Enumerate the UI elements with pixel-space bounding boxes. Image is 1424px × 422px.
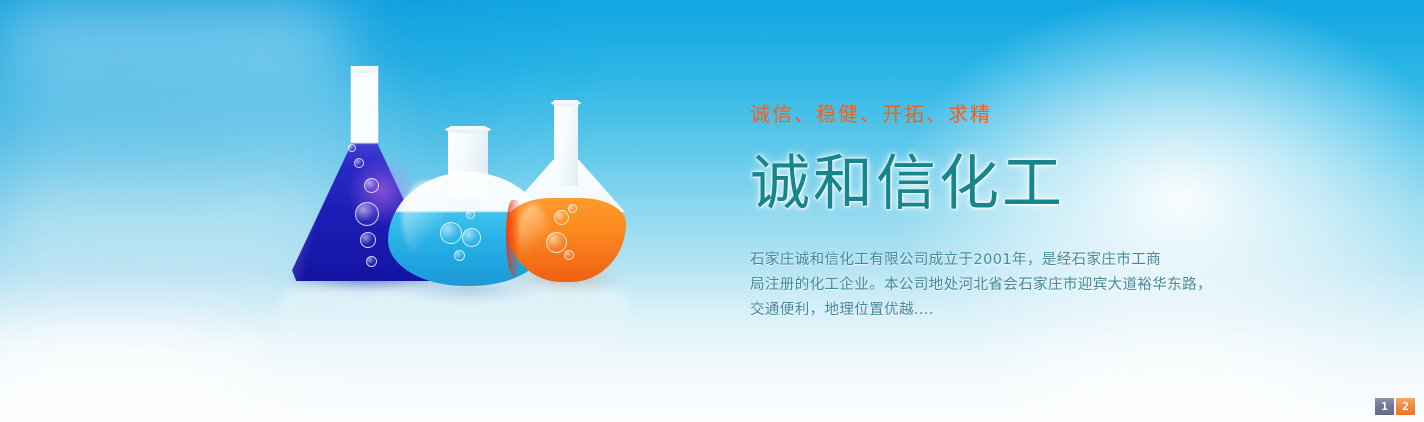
pager-button-2[interactable]: 2 xyxy=(1396,398,1415,415)
volumetric-neck xyxy=(554,100,578,186)
bubble xyxy=(454,250,465,261)
bubble xyxy=(466,210,475,219)
bubble xyxy=(440,222,462,244)
banner-tagline: 诚信、稳健、开拓、求精 xyxy=(750,104,1270,124)
carousel-pager: 1 2 xyxy=(1375,398,1415,415)
pager-button-1[interactable]: 1 xyxy=(1375,398,1394,415)
description-line: 石家庄诚和信化工有限公司成立于2001年，是经石家庄市工商 xyxy=(750,248,1270,273)
bubble xyxy=(568,204,577,213)
erlenmeyer-rim xyxy=(351,66,379,73)
bubble xyxy=(554,210,569,225)
hero-banner: 诚信、稳健、开拓、求精 诚和信化工 石家庄诚和信化工有限公司成立于2001年，是… xyxy=(0,0,1424,422)
volumetric-flask xyxy=(502,100,630,282)
round-bottom-rim xyxy=(445,126,491,133)
chemistry-flasks-illustration xyxy=(280,56,630,346)
volumetric-rim xyxy=(551,100,581,106)
bubble xyxy=(564,250,574,260)
bubble xyxy=(364,178,379,193)
bubble xyxy=(360,232,376,248)
round-bottom-highlight xyxy=(402,180,454,260)
banner-description: 石家庄诚和信化工有限公司成立于2001年，是经石家庄市工商 局注册的化工企业。本… xyxy=(750,248,1270,323)
bubble xyxy=(348,144,356,152)
banner-headline: 诚和信化工 xyxy=(750,154,1270,214)
bubble xyxy=(546,232,567,253)
description-line: 交通便利，地理位置优越.... xyxy=(750,298,1270,323)
bubble xyxy=(355,202,379,226)
bubble xyxy=(354,158,364,168)
description-line: 局注册的化工企业。本公司地处河北省会石家庄市迎宾大道裕华东路， xyxy=(750,273,1270,298)
banner-copy: 诚信、稳健、开拓、求精 诚和信化工 石家庄诚和信化工有限公司成立于2001年，是… xyxy=(750,104,1270,323)
bubble xyxy=(462,228,481,247)
bubble xyxy=(366,256,377,267)
volumetric-highlight xyxy=(518,204,548,264)
